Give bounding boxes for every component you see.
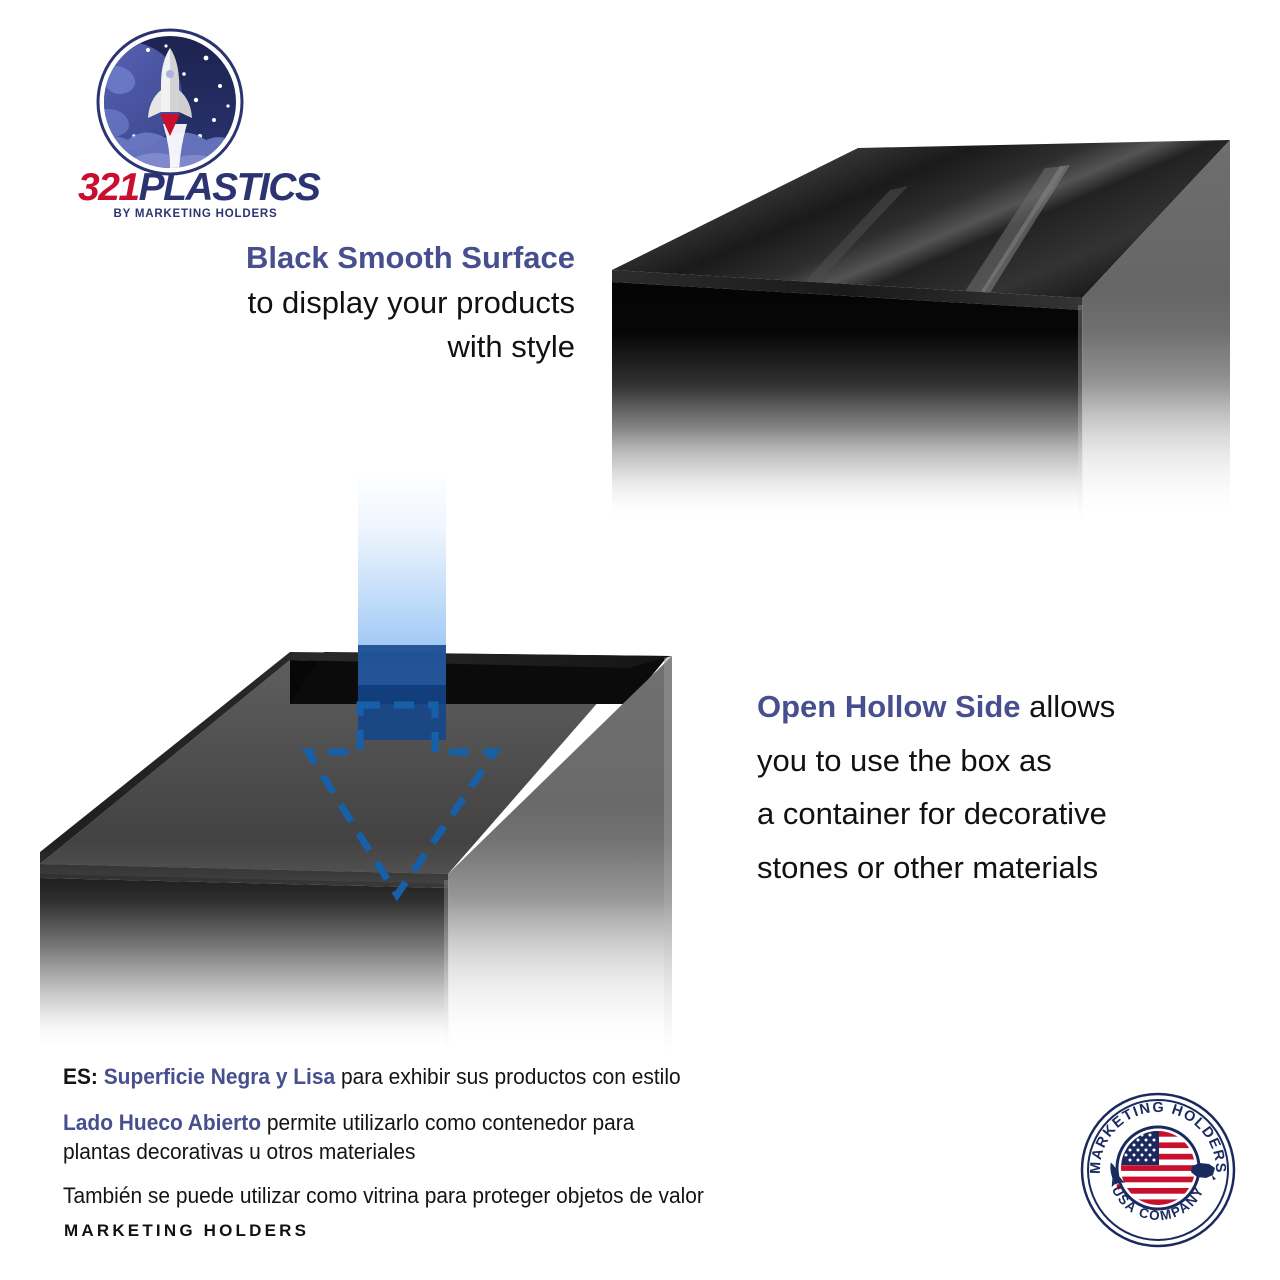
spanish-line1-rest: para exhibir sus productos con estilo	[335, 1064, 680, 1089]
callout-right-line1: Open Hollow Side allows	[757, 680, 1212, 734]
callout-open-hollow-side: Open Hollow Side allows you to use the b…	[757, 680, 1212, 895]
callout-right-line2: you to use the box as	[757, 734, 1212, 788]
spanish-line-2: Lado Hueco Abierto permite utilizarlo co…	[63, 1109, 900, 1167]
spanish-line2-wrap: plantas decorativas u otros materiales	[63, 1139, 415, 1164]
footer-brand-text: MARKETING HOLDERS	[64, 1221, 309, 1241]
top-box-front-face	[612, 282, 1082, 520]
infographic-canvas: 321PLASTICS BY MARKETING HOLDERS Black S…	[0, 0, 1280, 1280]
spanish-line2-rest: permite utilizarlo como contenedor para	[261, 1110, 634, 1135]
callout-top-line3: with style	[130, 325, 575, 370]
callout-top-line2: to display your products	[130, 281, 575, 326]
logo-wordmark: 321PLASTICS BY MARKETING HOLDERS	[78, 168, 313, 221]
spanish-line-1: ES: Superficie Negra y Lisa para exhibir…	[63, 1063, 900, 1092]
spanish-line1-highlight: Superficie Negra y Lisa	[104, 1064, 335, 1089]
callout-top-highlight: Black Smooth Surface	[246, 240, 575, 275]
logo-word: PLASTICS	[139, 166, 320, 209]
rocket-badge-icon	[88, 28, 253, 178]
callout-black-smooth-surface: Black Smooth Surface to display your pro…	[130, 236, 575, 370]
insertion-arrow-icon	[290, 690, 550, 930]
spanish-prefix: ES:	[63, 1064, 98, 1089]
spanish-description-block: ES: Superficie Negra y Lisa para exhibir…	[63, 1063, 963, 1228]
logo-tagline: BY MARKETING HOLDERS	[78, 209, 313, 221]
spanish-line-3: También se puede utilizar como vitrina p…	[63, 1182, 900, 1211]
callout-right-line3: a container for decorative	[757, 787, 1212, 841]
callout-top-line1: Black Smooth Surface	[130, 236, 575, 281]
usa-company-seal: MARKETING HOLDERS USA COMPANY	[1078, 1090, 1238, 1250]
top-product-box	[590, 130, 1250, 520]
callout-right-line4: stones or other materials	[757, 841, 1212, 895]
brand-logo: 321PLASTICS BY MARKETING HOLDERS	[70, 28, 320, 218]
callout-right-line1-rest: allows	[1021, 689, 1116, 724]
logo-number: 321	[78, 166, 139, 209]
callout-right-highlight: Open Hollow Side	[757, 689, 1021, 724]
spanish-line2-highlight: Lado Hueco Abierto	[63, 1110, 261, 1135]
